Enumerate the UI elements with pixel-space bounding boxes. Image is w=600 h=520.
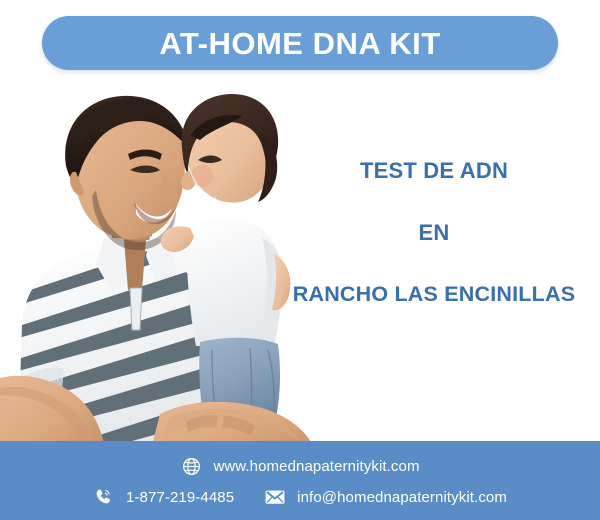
footer-phone-label: 1-877-219-4485 xyxy=(126,490,234,505)
header-badge-label: AT-HOME DNA KIT xyxy=(159,28,440,59)
poster-canvas: AT-HOME DNA KIT xyxy=(0,0,600,520)
footer-email-item[interactable]: info@homednapaternitykit.com xyxy=(264,486,507,508)
globe-icon xyxy=(180,455,202,477)
footer-email-label: info@homednapaternitykit.com xyxy=(297,490,507,505)
envelope-icon xyxy=(264,486,286,508)
phone-icon xyxy=(93,486,115,508)
headline-line-2: EN xyxy=(268,222,600,244)
header-badge: AT-HOME DNA KIT xyxy=(42,16,558,70)
footer-bar: www.homednapaternitykit.com 1-877-219-44… xyxy=(0,441,600,520)
footer-website-row: www.homednapaternitykit.com xyxy=(0,455,600,477)
footer-website-label: www.homednapaternitykit.com xyxy=(213,459,419,474)
headline-line-1: TEST DE ADN xyxy=(268,160,600,182)
headline-block: TEST DE ADN EN RANCHO LAS ENCINILLAS xyxy=(268,160,600,306)
footer-website-item[interactable]: www.homednapaternitykit.com xyxy=(180,455,419,477)
footer-phone-item[interactable]: 1-877-219-4485 xyxy=(93,486,234,508)
footer-contact-row: 1-877-219-4485 info@homednapaternitykit.… xyxy=(0,486,600,508)
headline-line-3: RANCHO LAS ENCINILLAS xyxy=(268,284,600,306)
